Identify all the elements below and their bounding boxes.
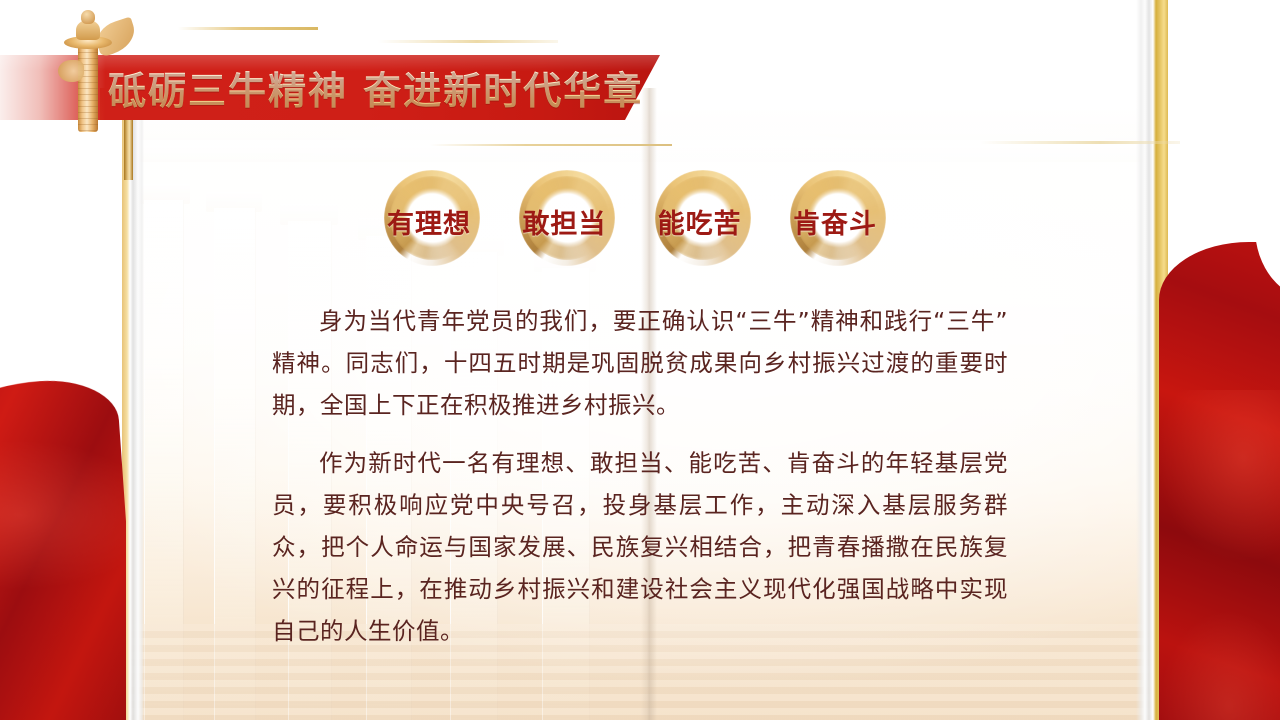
red-silk-left-sheen (0, 440, 126, 590)
huabiao-shaft (78, 40, 98, 132)
badge-label: 敢担当 (507, 202, 621, 241)
red-flag-right-sheen-2 (1159, 610, 1280, 720)
badge-gandandang[interactable]: 敢担当 (507, 168, 621, 280)
red-silk-left (0, 330, 126, 720)
badge-row: 有理想 敢担当 能吃苦 肯奋斗 (372, 168, 892, 280)
badge-youlixiang[interactable]: 有理想 (372, 168, 486, 280)
gold-rule-top-right (378, 40, 558, 43)
body-copy: 身为当代青年党员的我们，要正确认识“三牛”精神和践行“三牛”精神。同志们，十四五… (272, 300, 1008, 652)
paragraph-2: 作为新时代一名有理想、敢担当、能吃苦、肯奋斗的年轻基层党员，要积极响应党中央号召… (272, 442, 1008, 652)
huabiao-column-icon (56, 6, 130, 136)
badge-nengchiku[interactable]: 能吃苦 (643, 168, 757, 280)
huabiao-beast-top (81, 10, 95, 24)
badge-label: 能吃苦 (643, 202, 757, 241)
badge-label: 有理想 (372, 202, 486, 241)
page-title: 砥砺三牛精神 奋进新时代华章 (108, 55, 648, 120)
slide-root: 砥砺三牛精神 奋进新时代华章 有理想 敢担当 能吃苦 肯奋斗 (0, 0, 1280, 720)
paragraph-1: 身为当代青年党员的我们，要正确认识“三牛”精神和践行“三牛”精神。同志们，十四五… (272, 300, 1008, 426)
huabiao-cloud-left (58, 60, 84, 82)
badge-label: 肯奋斗 (778, 202, 892, 241)
gold-rule-under-banner-right (980, 141, 1180, 144)
gold-rule-under-banner-left (430, 144, 672, 146)
gold-rule-top-left (178, 27, 318, 30)
badge-kenfendou[interactable]: 肯奋斗 (778, 168, 892, 280)
red-flag-right-sheen (1159, 390, 1280, 560)
red-flag-right (1159, 180, 1280, 720)
